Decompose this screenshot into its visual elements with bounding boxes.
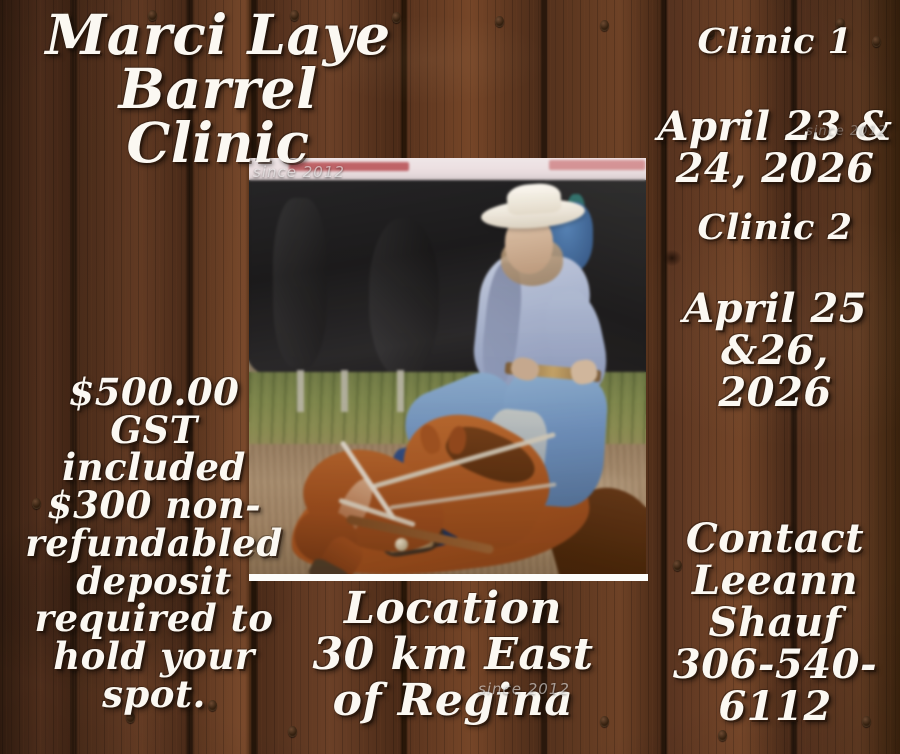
photo-color-tone	[249, 158, 646, 578]
nail-head-icon	[495, 16, 504, 27]
contact-heading: Contact	[650, 518, 900, 560]
contact-phone-line[interactable]: 6112	[650, 686, 900, 728]
page-title: Marci Laye Barrel Clinic	[8, 8, 428, 170]
nail-head-icon	[288, 726, 297, 737]
location-block: Location 30 km East of Regina	[258, 586, 648, 725]
barrel-racing-photo	[249, 158, 646, 578]
clinic-1-date-line: 24, 2026	[650, 148, 900, 190]
contact-block: Contact Leeann Shauf 306-540- 6112	[650, 518, 900, 728]
clinic-2-label: Clinic 2	[655, 210, 895, 245]
contact-name-line: Leeann	[650, 560, 900, 602]
contact-name-line: Shauf	[650, 602, 900, 644]
clinic-2-dates: April 25 &26, 2026	[650, 288, 900, 414]
clinic-1-label: Clinic 1	[655, 24, 895, 59]
price-line: GST	[4, 412, 304, 450]
nail-head-icon	[600, 20, 609, 31]
price-line: refundabled	[4, 525, 304, 563]
price-line: included	[4, 449, 304, 487]
title-line-2: Barrel	[8, 62, 428, 116]
title-line-3: Clinic	[8, 116, 428, 170]
horizontal-divider-rule	[249, 574, 648, 581]
title-line-1: Marci Laye	[8, 8, 428, 62]
clinic-2-date-line: &26,	[650, 330, 900, 372]
price-line: $300 non-	[4, 487, 304, 525]
price-line: $500.00	[4, 374, 304, 412]
location-label: Location	[258, 586, 648, 632]
poster: Marci Laye Barrel Clinic $500.00 GST inc…	[0, 0, 900, 754]
location-line: of Regina	[258, 678, 648, 724]
clinic-1-dates: April 23 & 24, 2026	[650, 106, 900, 190]
location-line: 30 km East	[258, 632, 648, 678]
clinic-2-date-line: 2026	[650, 372, 900, 414]
nail-head-icon	[718, 730, 727, 741]
clinic-2-date-line: April 25	[650, 288, 900, 330]
contact-phone-line[interactable]: 306-540-	[650, 644, 900, 686]
clinic-1-date-line: April 23 &	[650, 106, 900, 148]
